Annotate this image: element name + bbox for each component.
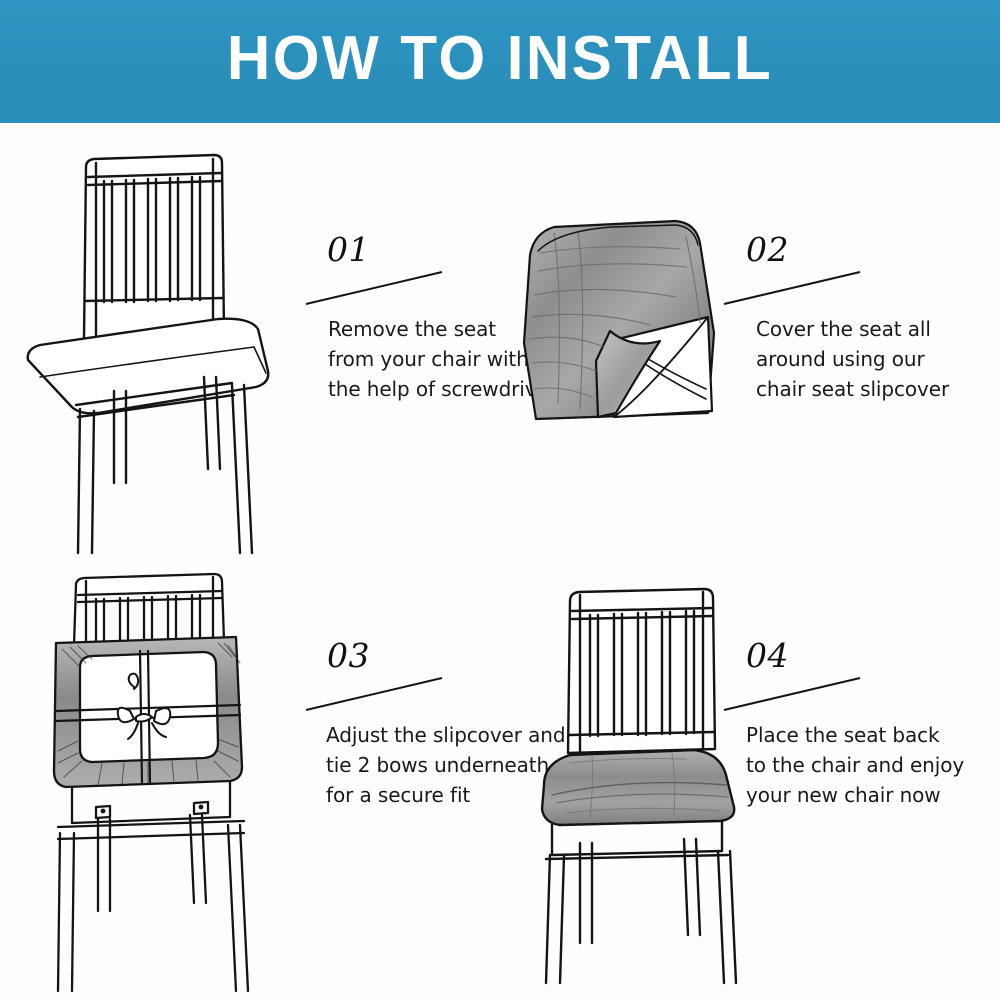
step-01: 01 Remove the seat from your chair with … (0, 123, 500, 561)
step-04-divider-line (720, 674, 898, 714)
header-banner: HOW TO INSTALL (0, 0, 1000, 123)
step-04: 04 Place the seat back to the chair and … (500, 561, 1000, 999)
step-02-line-3: chair seat slipcover (756, 374, 952, 404)
step-02-number: 02 (746, 233, 952, 266)
step-01-number: 01 (327, 233, 512, 266)
illustration-chair-with-detached-seat (18, 133, 308, 553)
step-01-divider-line (302, 268, 480, 308)
step-01-line-1: Remove the seat (328, 314, 512, 344)
step-04-line-1: Place the seat back (746, 720, 932, 750)
step-03: 03 Adjust the slipcover and tie 2 bows u… (0, 561, 500, 999)
step-03-text: 03 Adjust the slipcover and tie 2 bows u… (312, 639, 517, 810)
step-02-line-2: around using our (756, 344, 952, 374)
illustration-seat-upside-down-with-bows (18, 571, 308, 991)
steps-grid: 01 Remove the seat from your chair with … (0, 123, 1000, 1000)
step-02-description: Cover the seat all around using our chai… (756, 314, 952, 404)
step-02-text: 02 Cover the seat all around using our c… (732, 233, 952, 404)
step-02-divider-line (720, 268, 898, 308)
step-03-line-1: Adjust the slipcover and (326, 720, 517, 750)
step-03-line-2: tie 2 bows underneath (326, 750, 517, 780)
step-02-line-1: Cover the seat all (756, 314, 952, 344)
step-03-divider-line (302, 674, 480, 714)
step-01-description: Remove the seat from your chair with the… (328, 314, 512, 404)
page-title: HOW TO INSTALL (15, 0, 985, 123)
step-01-text: 01 Remove the seat from your chair with … (312, 233, 512, 404)
illustration-seat-slipcover-draped (500, 213, 750, 443)
step-03-number: 03 (327, 639, 517, 672)
step-04-line-3: your new chair now (746, 780, 932, 810)
step-02: 02 Cover the seat all around using our c… (500, 123, 1000, 561)
step-01-line-2: from your chair with (328, 344, 512, 374)
step-03-line-3: for a secure fit (326, 780, 517, 810)
step-04-number: 04 (746, 639, 932, 672)
step-04-text: 04 Place the seat back to the chair and … (732, 639, 932, 810)
step-03-description: Adjust the slipcover and tie 2 bows unde… (326, 720, 517, 810)
step-01-line-3: the help of screwdriver (328, 374, 512, 404)
step-04-line-2: to the chair and enjoy (746, 750, 932, 780)
step-04-description: Place the seat back to the chair and enj… (746, 720, 932, 810)
